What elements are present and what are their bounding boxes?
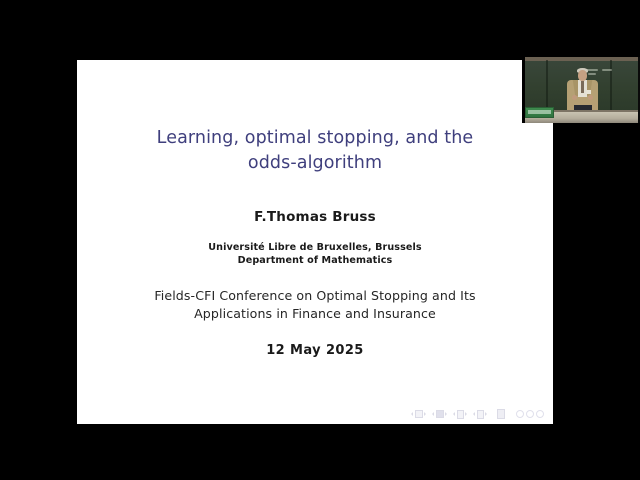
document-icon[interactable] (497, 409, 505, 419)
previous-section-icon[interactable] (453, 412, 455, 416)
slide-icon[interactable] (415, 410, 423, 418)
speaker-head (578, 70, 587, 81)
slide-title-line-1: Learning, optimal stopping, and the (77, 126, 553, 151)
section-icon[interactable] (457, 410, 464, 419)
slide-date: 12 May 2025 (77, 343, 553, 358)
part-navigation-group[interactable] (473, 410, 487, 419)
speaker-tie (581, 81, 584, 93)
find-icon[interactable] (526, 410, 534, 418)
next-section-icon[interactable] (465, 412, 467, 416)
section-navigation-group[interactable] (453, 410, 467, 419)
subsection-navigation-group[interactable] (432, 410, 447, 418)
next-subsection-icon[interactable] (445, 412, 447, 416)
history-navigation-group[interactable] (516, 410, 544, 418)
blackboard-top-frame (522, 57, 640, 61)
presentation-slide: Learning, optimal stopping, and the odds… (77, 60, 553, 424)
green-sign-text (528, 110, 551, 114)
slide-affiliation: Université Libre de Bruxelles, Brussels … (77, 242, 553, 267)
video-player-stage: Learning, optimal stopping, and the odds… (0, 0, 640, 480)
previous-subsection-icon[interactable] (432, 412, 434, 416)
back-icon[interactable] (516, 410, 524, 418)
forward-icon[interactable] (536, 410, 544, 418)
affiliation-department: Department of Mathematics (77, 255, 553, 268)
conference-line-2: Applications in Finance and Insurance (77, 305, 553, 323)
camera-letterbox-left (522, 57, 525, 123)
conference-line-1: Fields-CFI Conference on Optimal Stoppin… (77, 287, 553, 305)
slide-title-line-2: odds-algorithm (77, 151, 553, 176)
speaker-badge (586, 90, 591, 94)
next-slide-icon[interactable] (424, 412, 426, 416)
chalk-writing (602, 69, 612, 71)
slide-navigation-group[interactable] (411, 410, 426, 418)
green-sign (525, 107, 554, 118)
part-icon[interactable] (477, 410, 484, 419)
blackboard-seam-left (546, 60, 548, 112)
previous-part-icon[interactable] (473, 412, 475, 416)
slide-title: Learning, optimal stopping, and the odds… (77, 126, 553, 176)
slide-conference: Fields-CFI Conference on Optimal Stoppin… (77, 287, 553, 322)
next-part-icon[interactable] (485, 412, 487, 416)
speaker-hand-left (572, 95, 577, 100)
blackboard-seam-right (610, 60, 612, 112)
subsection-icon[interactable] (436, 410, 444, 418)
slide-author: F.Thomas Bruss (77, 209, 553, 225)
speaker-hand-right (588, 95, 593, 100)
presenter-camera-inset (522, 57, 640, 123)
chalk-writing (588, 73, 596, 75)
beamer-navigation-bar[interactable] (411, 409, 544, 419)
previous-slide-icon[interactable] (411, 412, 413, 416)
affiliation-institution: Université Libre de Bruxelles, Brussels (77, 242, 553, 255)
